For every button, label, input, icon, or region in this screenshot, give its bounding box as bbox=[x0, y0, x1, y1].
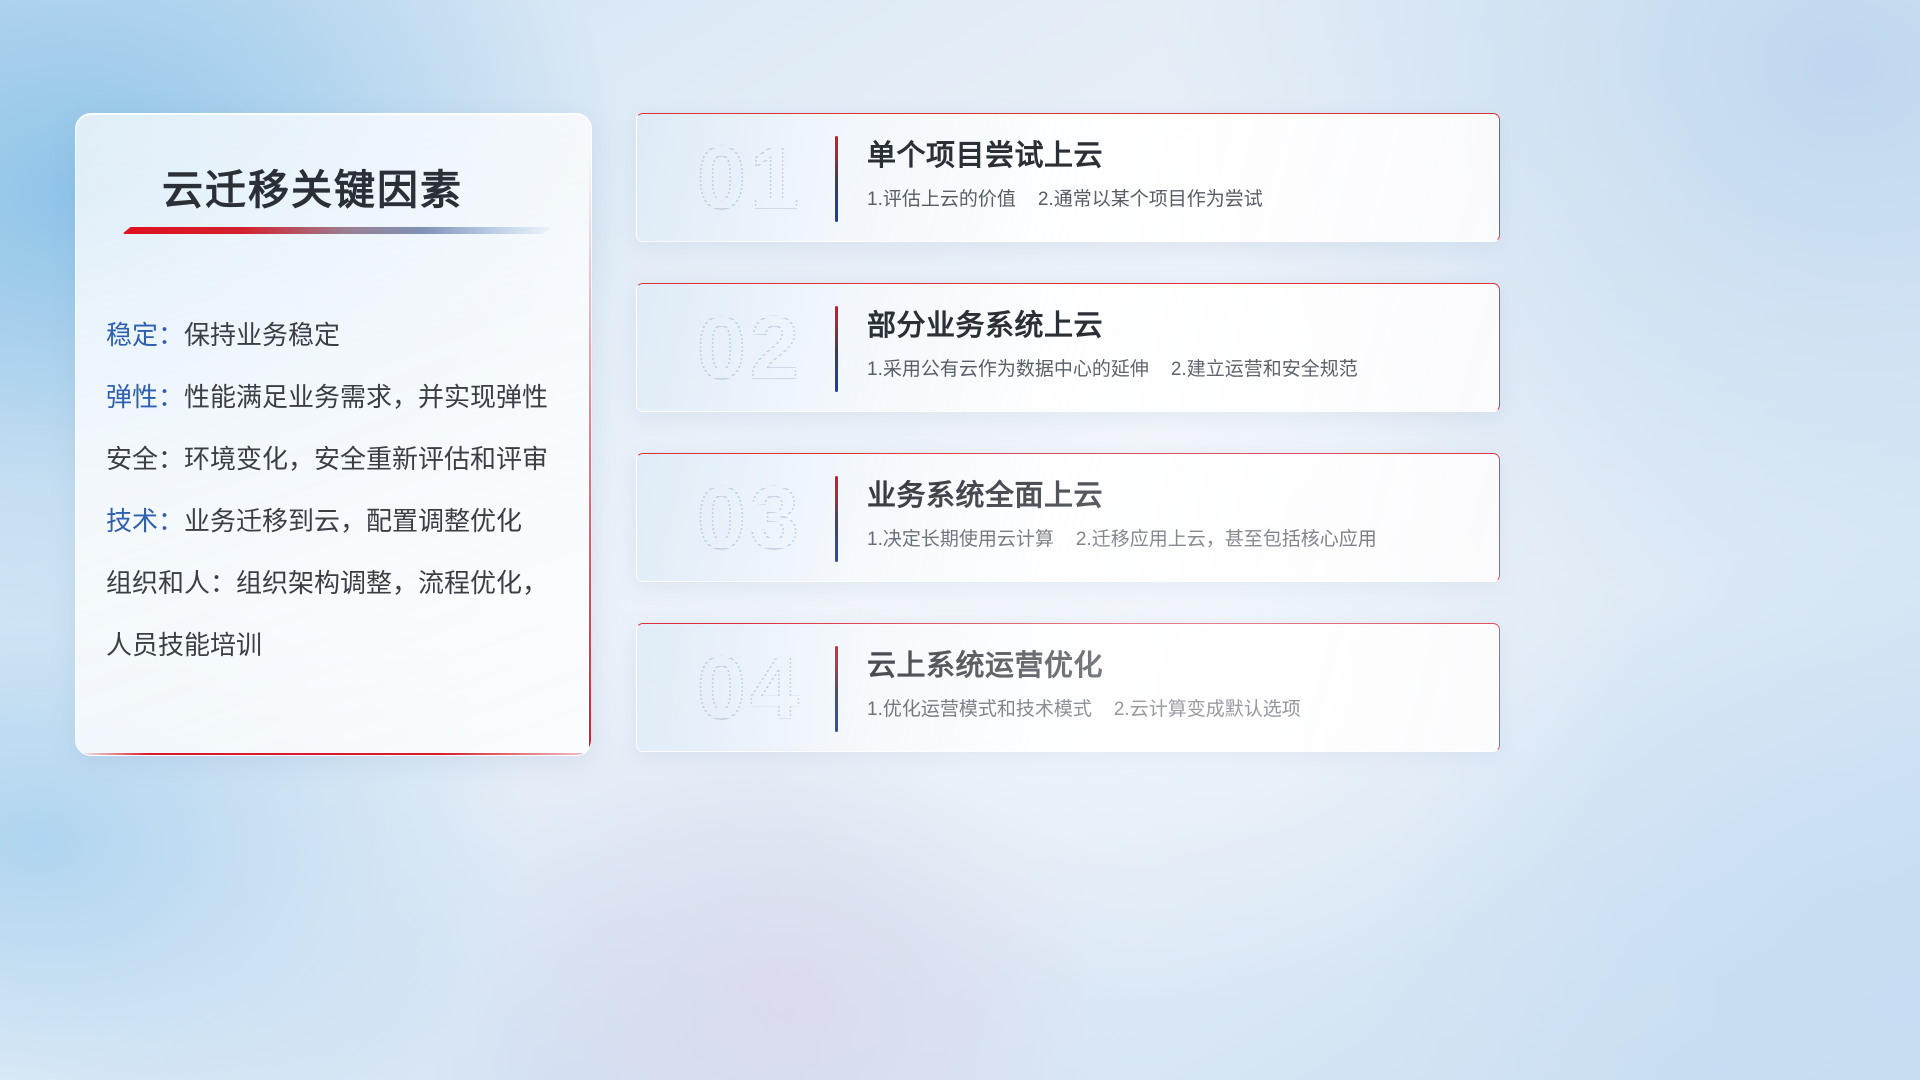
stage-title: 单个项目尝试上云 bbox=[867, 134, 1479, 178]
stage-point-1: 1.决定长期使用云计算 bbox=[867, 529, 1054, 550]
factor-item-stability: 稳定：保持业务稳定 bbox=[106, 304, 573, 366]
stage-card-body: 云上系统运营优化 1.优化运营模式和技术模式2.云计算变成默认选项 bbox=[867, 644, 1479, 724]
stage-card-03[interactable]: 03 业务系统全面上云 1.决定长期使用云计算2.迁移应用上云，甚至包括核心应用 bbox=[636, 453, 1500, 582]
factor-item-security: 安全：环境变化，安全重新评估和评审 bbox=[106, 428, 573, 490]
factor-label: 稳定： bbox=[106, 320, 184, 350]
title-underline-gradient bbox=[122, 227, 552, 234]
migration-stage-cards: 01 单个项目尝试上云 1.评估上云的价值2.通常以某个项目作为尝试 02 部分… bbox=[636, 113, 1500, 752]
stage-description: 1.评估上云的价值2.通常以某个项目作为尝试 bbox=[867, 186, 1479, 214]
stage-title: 部分业务系统上云 bbox=[867, 304, 1479, 348]
factor-text: 性能满足业务需求，并实现弹性 bbox=[184, 382, 548, 412]
factor-text: 业务迁移到云，配置调整优化 bbox=[184, 506, 522, 536]
stage-point-2: 2.通常以某个项目作为尝试 bbox=[1038, 189, 1263, 210]
factor-label: 技术： bbox=[106, 506, 184, 536]
stage-point-2: 2.迁移应用上云，甚至包括核心应用 bbox=[1076, 529, 1377, 550]
accent-bar bbox=[835, 136, 838, 222]
stage-point-1: 1.优化运营模式和技术模式 bbox=[867, 699, 1092, 720]
stage-point-1: 1.评估上云的价值 bbox=[867, 189, 1016, 210]
accent-bar bbox=[835, 306, 838, 392]
accent-bar bbox=[835, 476, 838, 562]
stage-point-1: 1.采用公有云作为数据中心的延伸 bbox=[867, 359, 1149, 380]
stage-number: 02 bbox=[665, 298, 835, 398]
stage-card-04[interactable]: 04 云上系统运营优化 1.优化运营模式和技术模式2.云计算变成默认选项 bbox=[636, 623, 1500, 752]
stage-description: 1.优化运营模式和技术模式2.云计算变成默认选项 bbox=[867, 696, 1479, 724]
stage-title: 业务系统全面上云 bbox=[867, 474, 1479, 518]
factor-label: 安全： bbox=[106, 444, 184, 474]
stage-number: 04 bbox=[665, 638, 835, 738]
page-title: 云迁移关键因素 bbox=[162, 156, 463, 216]
factor-list: 稳定：保持业务稳定 弹性：性能满足业务需求，并实现弹性 安全：环境变化，安全重新… bbox=[106, 304, 573, 676]
key-factors-panel: 云迁移关键因素 稳定：保持业务稳定 弹性：性能满足业务需求，并实现弹性 安全：环… bbox=[75, 113, 592, 756]
factor-label: 弹性： bbox=[106, 382, 184, 412]
stage-number: 03 bbox=[665, 468, 835, 568]
accent-bar bbox=[835, 646, 838, 732]
factor-item-technology: 技术：业务迁移到云，配置调整优化 bbox=[106, 490, 573, 552]
factor-text: 环境变化，安全重新评估和评审 bbox=[184, 444, 548, 474]
stage-card-01[interactable]: 01 单个项目尝试上云 1.评估上云的价值2.通常以某个项目作为尝试 bbox=[636, 113, 1500, 242]
slide-canvas: 云迁移关键因素 稳定：保持业务稳定 弹性：性能满足业务需求，并实现弹性 安全：环… bbox=[0, 0, 1920, 1080]
stage-card-body: 业务系统全面上云 1.决定长期使用云计算2.迁移应用上云，甚至包括核心应用 bbox=[867, 474, 1479, 554]
stage-title: 云上系统运营优化 bbox=[867, 644, 1479, 688]
stage-card-02[interactable]: 02 部分业务系统上云 1.采用公有云作为数据中心的延伸2.建立运营和安全规范 bbox=[636, 283, 1500, 412]
stage-description: 1.采用公有云作为数据中心的延伸2.建立运营和安全规范 bbox=[867, 356, 1479, 384]
factor-item-elasticity: 弹性：性能满足业务需求，并实现弹性 bbox=[106, 366, 573, 428]
stage-point-2: 2.云计算变成默认选项 bbox=[1114, 699, 1301, 720]
stage-description: 1.决定长期使用云计算2.迁移应用上云，甚至包括核心应用 bbox=[867, 526, 1479, 554]
stage-point-2: 2.建立运营和安全规范 bbox=[1171, 359, 1358, 380]
stage-number: 01 bbox=[665, 128, 835, 228]
factor-text: 保持业务稳定 bbox=[184, 320, 340, 350]
factor-item-organization: 组织和人：组织架构调整，流程优化，人员技能培训 bbox=[106, 552, 573, 676]
factor-label: 组织和人： bbox=[106, 568, 236, 598]
stage-card-body: 单个项目尝试上云 1.评估上云的价值2.通常以某个项目作为尝试 bbox=[867, 134, 1479, 214]
stage-card-body: 部分业务系统上云 1.采用公有云作为数据中心的延伸2.建立运营和安全规范 bbox=[867, 304, 1479, 384]
